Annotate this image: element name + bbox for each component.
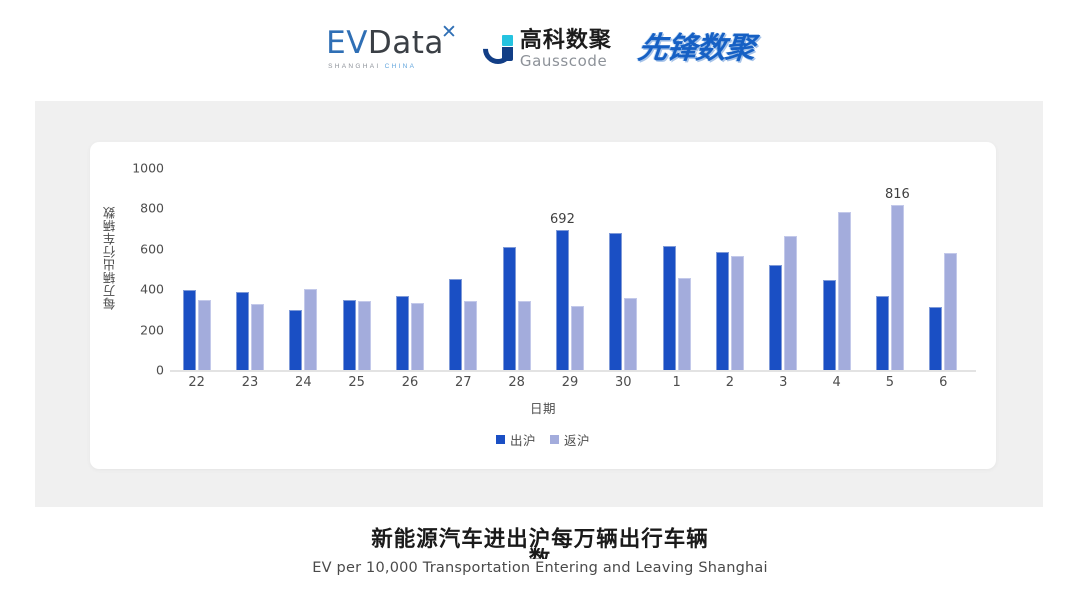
x-axis-ticks: 222324252627282930123456 <box>170 375 970 395</box>
caption-subtitle-en: EV per 10,000 Transportation Entering an… <box>0 560 1080 576</box>
bar-返沪[interactable] <box>518 301 531 370</box>
bar-group <box>170 168 223 370</box>
x-axis-tick: 26 <box>383 375 436 395</box>
x-axis-tick: 6 <box>917 375 970 395</box>
bar-group: 692 <box>543 168 596 370</box>
gausscode-cyan-square-icon <box>502 35 513 46</box>
gausscode-name-cn: 高科数聚 <box>520 30 612 52</box>
bar-返沪[interactable] <box>464 301 477 370</box>
bar-group <box>223 168 276 370</box>
x-axis-tick: 23 <box>223 375 276 395</box>
bar-返沪[interactable] <box>304 289 317 370</box>
bar-value-label: 816 <box>885 187 910 202</box>
legend-swatch-icon <box>550 435 559 444</box>
legend-label: 出沪 <box>510 430 536 449</box>
caption-block: 新能源汽车进出沪每万辆出行车辆 数 EV per 10,000 Transpor… <box>0 528 1080 576</box>
bar-出沪[interactable] <box>449 279 462 370</box>
x-axis-tick: 30 <box>597 375 650 395</box>
bar-group: 816 <box>863 168 916 370</box>
y-axis-tick: 0 <box>118 363 164 378</box>
bar-group <box>597 168 650 370</box>
bar-出沪[interactable] <box>609 233 622 370</box>
bar-value-label: 692 <box>550 212 575 227</box>
x-axis-tick: 1 <box>650 375 703 395</box>
x-axis-tick: 25 <box>330 375 383 395</box>
evdata-word-ev: EVData <box>326 28 444 59</box>
logo-strip: EVData ✕ SHANGHAI CHINA 高科数聚 Gausscode 先… <box>0 18 1080 80</box>
x-axis-tick: 2 <box>703 375 756 395</box>
evdata-subtitle-cn: CHINA <box>385 63 417 70</box>
bar-groups: 692816 <box>170 168 970 370</box>
bar-返沪[interactable] <box>251 304 264 370</box>
bar-出沪[interactable] <box>396 296 409 370</box>
bar-出沪[interactable] <box>716 252 729 370</box>
bar-group <box>757 168 810 370</box>
bar-出沪[interactable]: 692 <box>556 230 569 370</box>
bar-group <box>437 168 490 370</box>
bar-返沪[interactable] <box>784 236 797 370</box>
x-mark-icon: ✕ <box>441 21 457 43</box>
legend-label: 返沪 <box>564 430 590 449</box>
x-axis-tick: 3 <box>757 375 810 395</box>
bar-group <box>650 168 703 370</box>
x-axis-tick: 5 <box>863 375 916 395</box>
bar-出沪[interactable] <box>663 246 676 370</box>
bar-返沪[interactable] <box>571 306 584 370</box>
gausscode-logo: 高科数聚 Gausscode <box>483 30 612 69</box>
bar-返沪[interactable] <box>678 278 691 370</box>
bar-返沪[interactable] <box>944 253 957 370</box>
plot-area: 692816 <box>170 168 970 370</box>
legend-item-返沪[interactable]: 返沪 <box>550 430 590 449</box>
evdata-wordmark: EVData ✕ <box>326 28 457 59</box>
x-axis-tick: 24 <box>277 375 330 395</box>
y-axis-tick: 200 <box>118 322 164 337</box>
chart-legend: 出沪返沪 <box>90 430 996 449</box>
bar-出沪[interactable] <box>343 300 356 370</box>
evdata-logo: EVData ✕ SHANGHAI CHINA <box>326 28 457 70</box>
bar-返沪[interactable] <box>358 301 371 370</box>
caption-title-cn: 新能源汽车进出沪每万辆出行车辆 数 <box>371 528 709 553</box>
bar-出沪[interactable] <box>929 307 942 370</box>
bar-group <box>330 168 383 370</box>
bar-返沪[interactable]: 816 <box>891 205 904 370</box>
legend-item-出沪[interactable]: 出沪 <box>496 430 536 449</box>
evdata-word-data: Data <box>368 25 444 61</box>
caption-title-cn-clipped: 数 <box>529 548 552 559</box>
bar-group <box>917 168 970 370</box>
xianfeng-logo: 先锋数聚 <box>636 34 755 64</box>
bar-返沪[interactable] <box>731 256 744 370</box>
y-axis-tick: 800 <box>118 201 164 216</box>
x-axis-label: 日期 <box>90 398 996 417</box>
gausscode-mark-icon <box>483 34 513 64</box>
gausscode-name-en: Gausscode <box>520 54 612 69</box>
y-axis-ticks: 02004006008001000 <box>118 168 164 370</box>
bar-group <box>490 168 543 370</box>
gausscode-navy-square-icon <box>502 47 513 61</box>
bar-出沪[interactable] <box>876 296 889 370</box>
bar-出沪[interactable] <box>769 265 782 370</box>
bar-出沪[interactable] <box>823 280 836 370</box>
y-axis-tick: 400 <box>118 282 164 297</box>
bar-出沪[interactable] <box>289 310 302 370</box>
bar-group <box>383 168 436 370</box>
bar-出沪[interactable] <box>183 290 196 370</box>
bar-group <box>277 168 330 370</box>
bar-返沪[interactable] <box>411 303 424 370</box>
bar-返沪[interactable] <box>198 300 211 370</box>
x-axis-tick: 27 <box>437 375 490 395</box>
bar-出沪[interactable] <box>236 292 249 370</box>
bar-chart: 每万辆出行车辆数 02004006008001000 692816 222324… <box>90 142 996 469</box>
x-axis-tick: 22 <box>170 375 223 395</box>
y-axis-tick: 1000 <box>118 161 164 176</box>
x-axis-tick: 29 <box>543 375 596 395</box>
bar-group <box>810 168 863 370</box>
y-axis-tick: 600 <box>118 241 164 256</box>
evdata-subtitle: SHANGHAI CHINA <box>328 63 416 70</box>
x-axis-line <box>170 370 976 372</box>
x-axis-tick: 4 <box>810 375 863 395</box>
bar-出沪[interactable] <box>503 247 516 370</box>
x-axis-tick: 28 <box>490 375 543 395</box>
chart-card: 每万辆出行车辆数 02004006008001000 692816 222324… <box>90 142 996 469</box>
legend-swatch-icon <box>496 435 505 444</box>
bar-返沪[interactable] <box>838 212 851 370</box>
gausscode-wordmark: 高科数聚 Gausscode <box>520 30 612 69</box>
bar-返沪[interactable] <box>624 298 637 370</box>
bar-group <box>703 168 756 370</box>
y-axis-label: 每万辆出行车辆数 <box>101 178 119 338</box>
